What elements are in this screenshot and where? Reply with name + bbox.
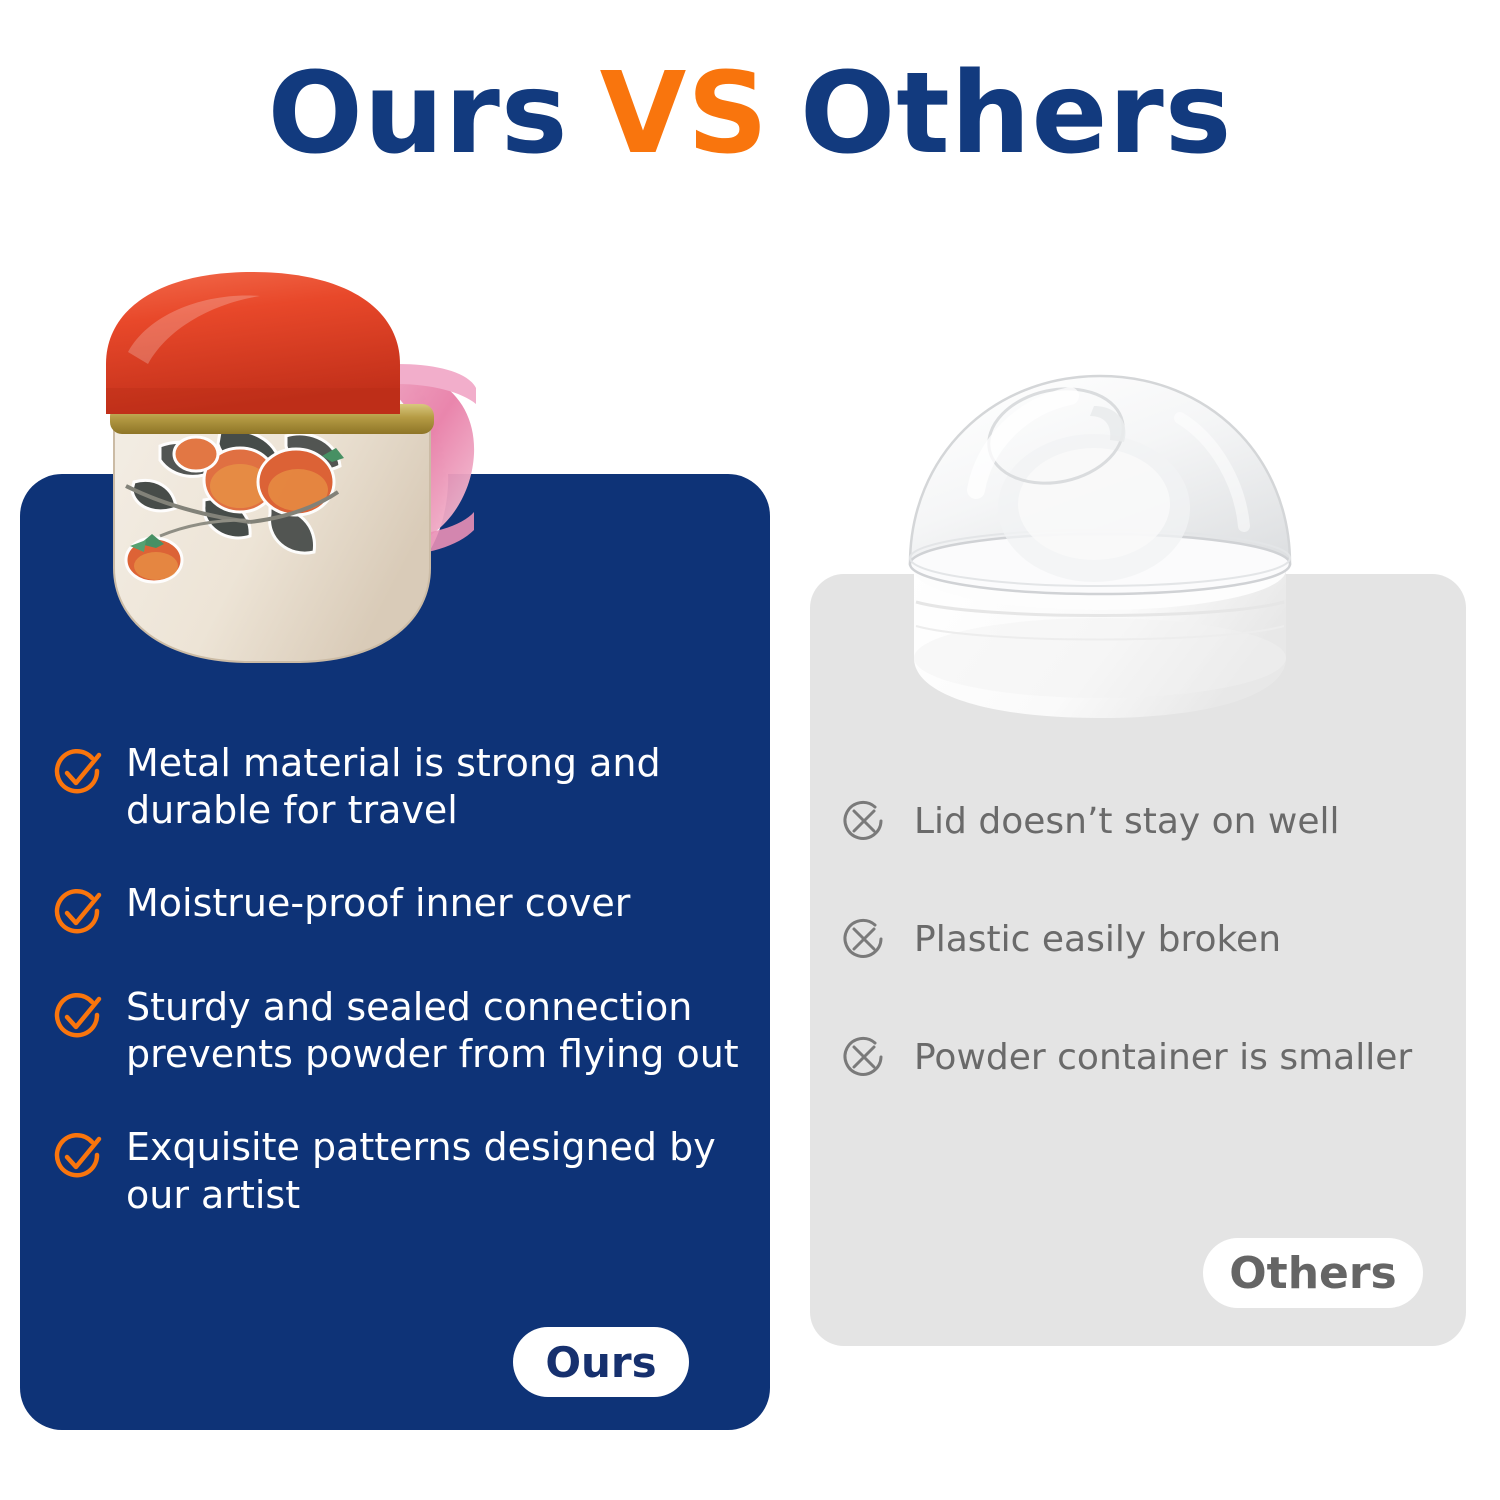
drawback-item: Powder container is smaller [840, 1034, 1460, 1082]
drawback-label: Plastic easily broken [914, 918, 1281, 961]
ours-product-image [100, 268, 750, 688]
feature-label: Sturdy and sealed connection prevents po… [126, 984, 746, 1078]
drawback-label: Powder container is smaller [914, 1036, 1412, 1079]
check-circle-icon [52, 1130, 104, 1182]
check-circle-icon [52, 886, 104, 938]
ours-badge-label: Ours [545, 1338, 656, 1387]
drawback-item: Lid doesn’t stay on well [840, 798, 1460, 846]
ours-feature-list: Metal material is strong and durable for… [52, 740, 752, 1265]
title-word-vs: VS [600, 49, 769, 179]
drawback-item: Plastic easily broken [840, 916, 1460, 964]
ours-badge: Ours [513, 1327, 689, 1397]
feature-item: Metal material is strong and durable for… [52, 740, 752, 834]
feature-label: Moistrue-proof inner cover [126, 880, 630, 927]
feature-item: Sturdy and sealed connection prevents po… [52, 984, 752, 1078]
x-circle-icon [840, 916, 888, 964]
feature-label: Metal material is strong and durable for… [126, 740, 746, 834]
jar-lid [106, 272, 400, 418]
feature-label: Exquisite patterns designed by our artis… [126, 1124, 746, 1218]
feature-item: Moistrue-proof inner cover [52, 880, 752, 938]
x-circle-icon [840, 798, 888, 846]
title-word-ours: Ours [268, 49, 569, 179]
others-badge: Others [1203, 1238, 1423, 1308]
feature-item: Exquisite patterns designed by our artis… [52, 1124, 752, 1218]
x-circle-icon [840, 1034, 888, 1082]
check-circle-icon [52, 990, 104, 1042]
others-product-image [880, 358, 1320, 740]
check-circle-icon [52, 746, 104, 798]
others-drawback-list: Lid doesn’t stay on well Plastic easily … [840, 798, 1460, 1152]
others-badge-label: Others [1229, 1248, 1397, 1299]
clear-dome-lid [910, 376, 1290, 594]
page-title: Ours VS Others [0, 58, 1500, 170]
title-word-others: Others [800, 49, 1232, 179]
drawback-label: Lid doesn’t stay on well [914, 800, 1340, 843]
